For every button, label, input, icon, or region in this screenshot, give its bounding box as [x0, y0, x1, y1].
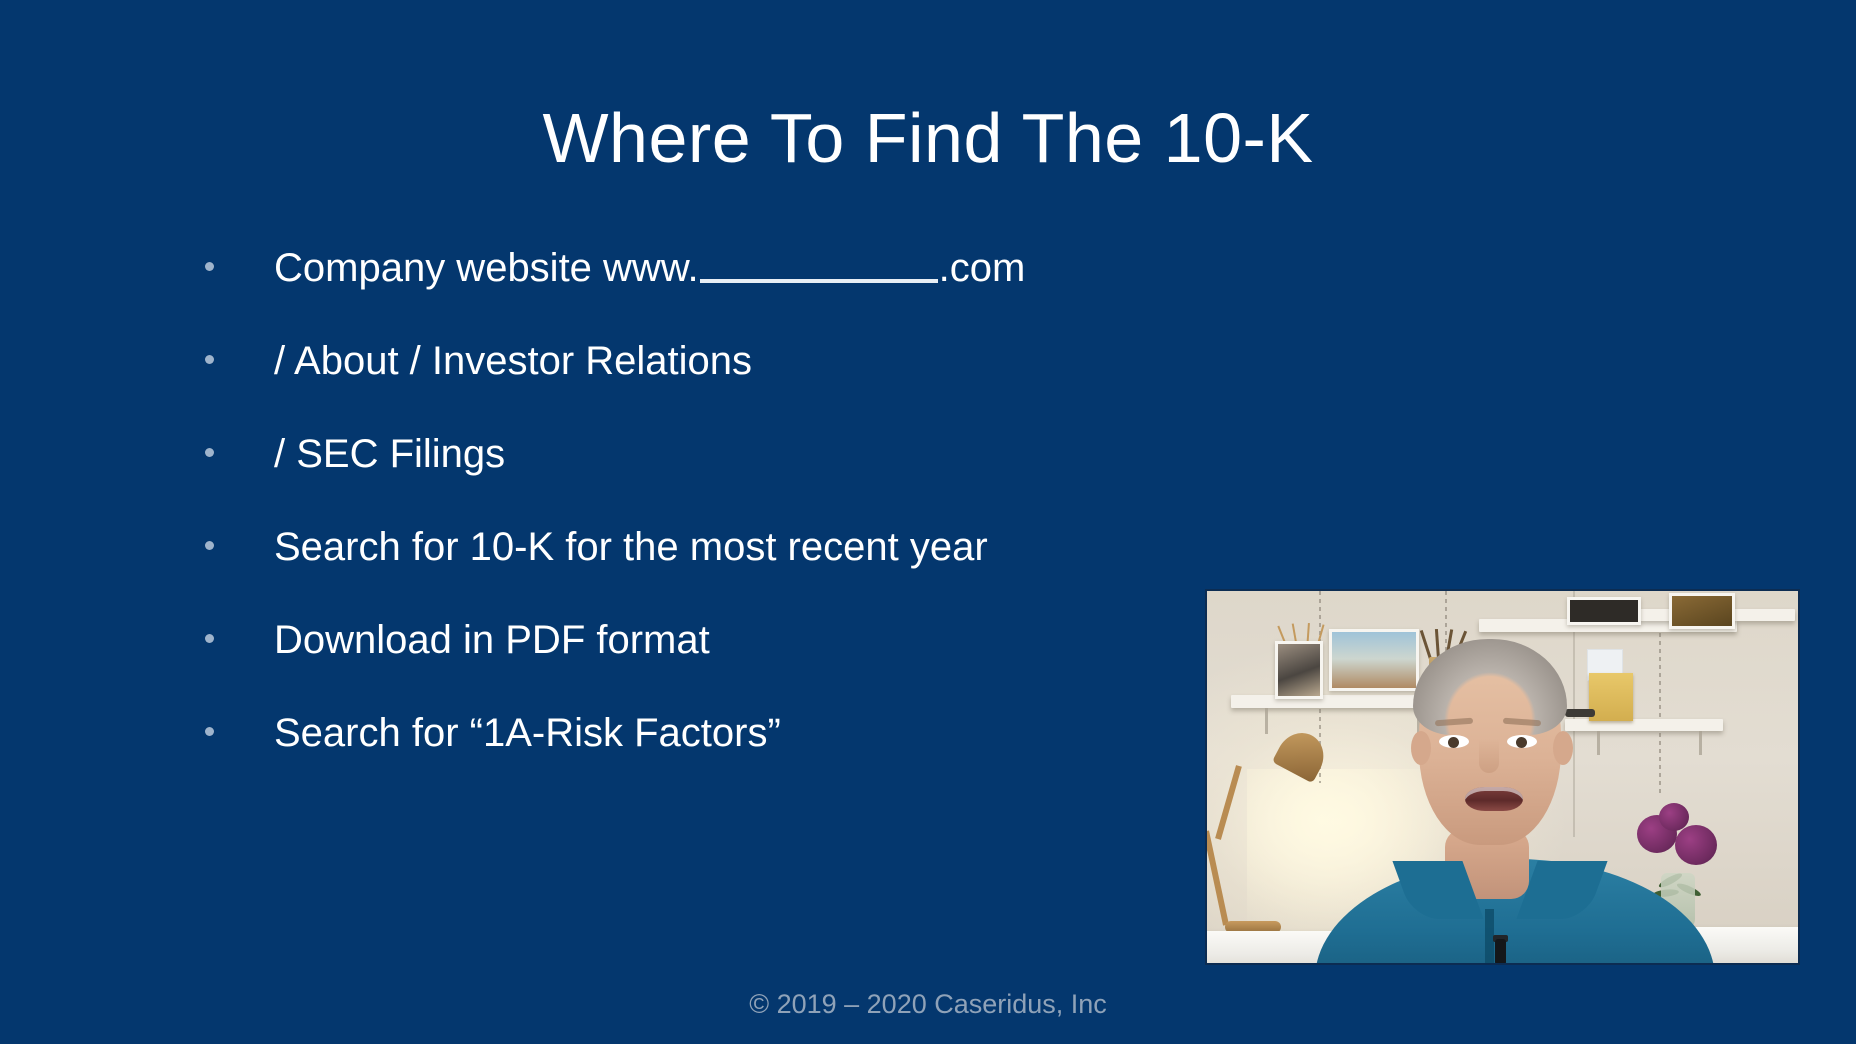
- framed-picture-top-right: [1669, 593, 1735, 629]
- video-scene: [1207, 591, 1798, 963]
- pencil: [1420, 630, 1432, 659]
- lamp-arm-lower: [1207, 830, 1229, 925]
- presenter-ear-left: [1411, 731, 1431, 765]
- framed-photo-small: [1275, 641, 1323, 699]
- shelf-bracket: [1265, 708, 1268, 734]
- bullet-item-search-risk-factors: Search for “1A-Risk Factors”: [205, 713, 1215, 806]
- presenter-eye-right: [1507, 735, 1537, 748]
- shelf-hanger-strap: [1659, 633, 1661, 721]
- blank-underline: [700, 279, 938, 283]
- bullet-list: Company website www..com / About / Inves…: [205, 248, 1215, 806]
- bullet-text-about-investor-relations: / About / Investor Relations: [274, 341, 752, 381]
- presenter-mouth: [1465, 787, 1523, 811]
- presenter-nose: [1479, 739, 1499, 773]
- shelf-bracket: [1597, 731, 1600, 755]
- bullet-item-sec-filings: / SEC Filings: [205, 434, 1215, 527]
- bullet-text-search-risk-factors: Search for “1A-Risk Factors”: [274, 713, 781, 753]
- presenter-ear-right: [1553, 731, 1573, 765]
- shelf-hanger-strap: [1659, 733, 1661, 793]
- presenter-eye-left: [1439, 735, 1469, 748]
- presenter-video-overlay[interactable]: [1207, 591, 1798, 963]
- slide-title: Where To Find The 10-K: [0, 102, 1856, 176]
- bullet-dot-icon: [205, 262, 214, 271]
- lamp-arm-upper: [1215, 765, 1242, 840]
- bullet-text-download-pdf: Download in PDF format: [274, 620, 710, 660]
- bullet-prefix-company-website: Company website www.: [274, 246, 699, 290]
- framed-photo-landscape: [1329, 629, 1419, 691]
- bullet-dot-icon: [205, 727, 214, 736]
- lapel-mic: [1495, 939, 1506, 963]
- bullet-item-about-investor-relations: / About / Investor Relations: [205, 341, 1215, 434]
- bullet-dot-icon: [205, 355, 214, 364]
- remote-control: [1565, 709, 1595, 717]
- bullet-item-download-pdf: Download in PDF format: [205, 620, 1215, 713]
- bullet-dot-icon: [205, 541, 214, 550]
- framed-picture-dark: [1567, 597, 1641, 625]
- presenter-pupil-right: [1516, 737, 1527, 748]
- presentation-slide: Where To Find The 10-K Company website w…: [0, 0, 1856, 1044]
- shelf-bracket: [1699, 731, 1702, 755]
- bullet-item-search-most-recent-year: Search for 10-K for the most recent year: [205, 527, 1215, 620]
- bullet-dot-icon: [205, 634, 214, 643]
- bullet-text-company-website: Company website www..com: [274, 248, 1025, 288]
- copyright-footer: © 2019 – 2020 Caseridus, Inc: [0, 989, 1856, 1020]
- bullet-item-company-website: Company website www..com: [205, 248, 1215, 341]
- bullet-suffix-company-website: .com: [939, 246, 1026, 290]
- bullet-dot-icon: [205, 448, 214, 457]
- flower-bloom: [1675, 825, 1717, 865]
- bullet-text-search-most-recent-year: Search for 10-K for the most recent year: [274, 527, 988, 567]
- presenter-pupil-left: [1448, 737, 1459, 748]
- gold-box: [1589, 673, 1633, 721]
- bullet-text-sec-filings: / SEC Filings: [274, 434, 505, 474]
- flower-bloom: [1659, 803, 1689, 831]
